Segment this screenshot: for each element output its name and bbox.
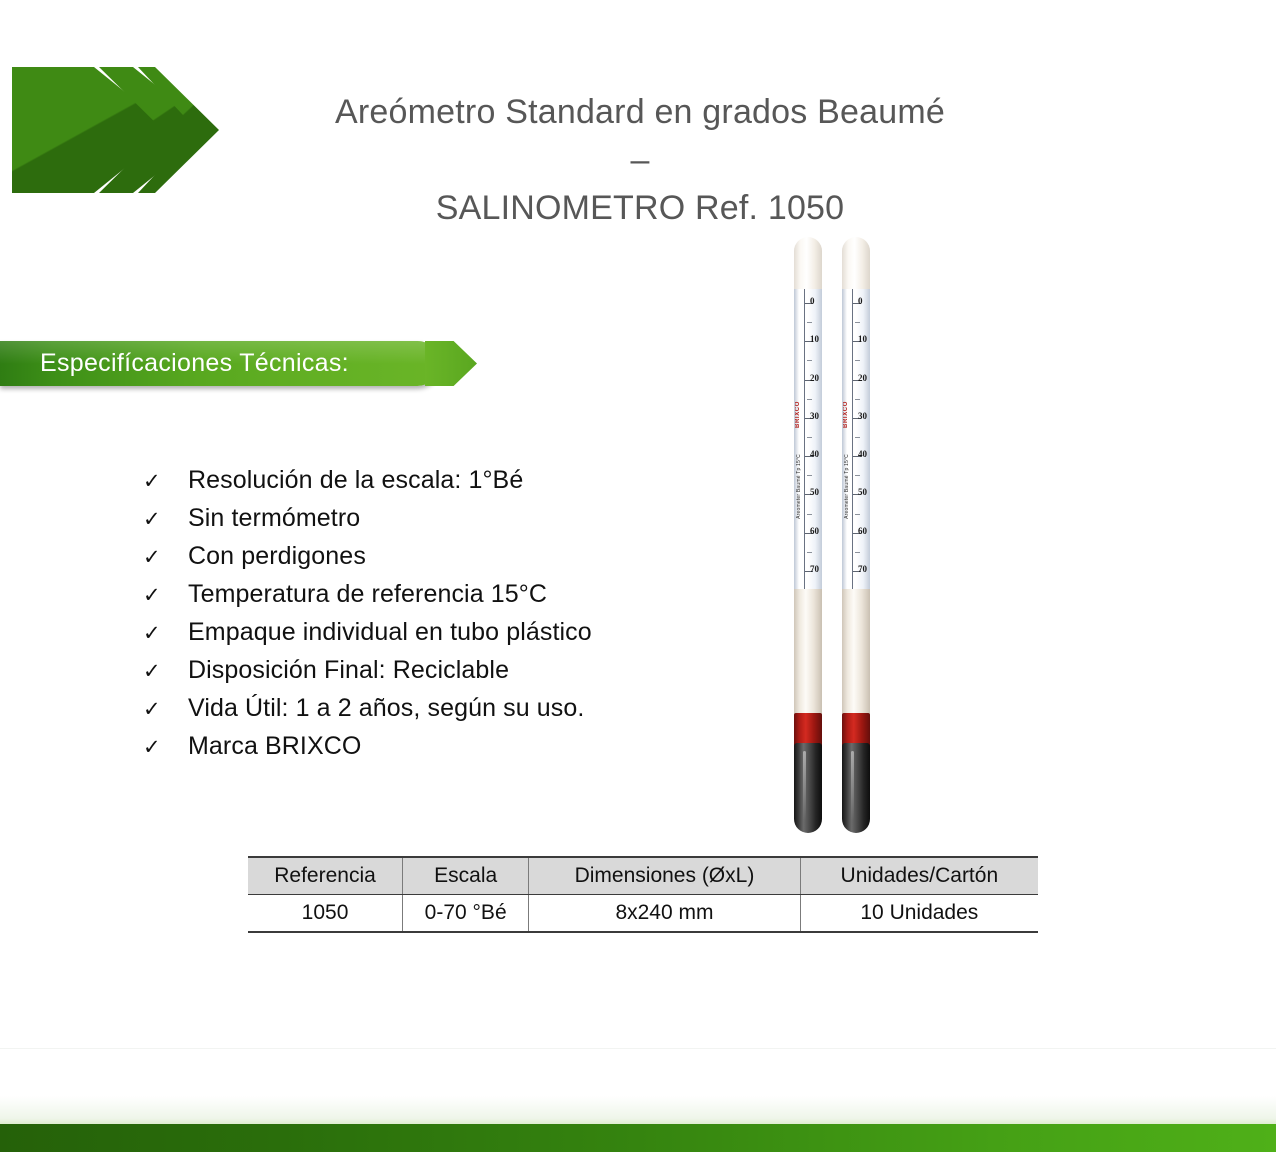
scale-tick-minor [855, 475, 860, 476]
table-header-cell: Referencia [248, 857, 403, 895]
hydrometer-cap [794, 237, 822, 295]
scale-tick-minor [807, 399, 812, 400]
list-item: ✓ Sin termómetro [143, 504, 763, 542]
check-icon: ✓ [143, 471, 188, 492]
hydrometer-cap [842, 237, 870, 295]
product-photo: BRIXCO Areometer Baumé Tp 15°C 010203040… [780, 237, 900, 832]
scale-number: 40 [858, 450, 867, 459]
footer-hairline [0, 1048, 1276, 1049]
scale-number: 40 [810, 450, 819, 459]
hydrometer-scale-description: Areometer Baumé Tp 15°C [844, 454, 850, 519]
hydrometer-stem [794, 589, 822, 717]
scale-tick-minor [807, 322, 812, 323]
list-item: ✓ Empaque individual en tubo plástico [143, 618, 763, 656]
table-cell: 0-70 °Bé [403, 895, 529, 933]
list-item-label: Sin termómetro [188, 504, 360, 533]
list-item: ✓ Marca BRIXCO [143, 732, 763, 770]
specifications-list: ✓ Resolución de la escala: 1°Bé ✓ Sin te… [143, 466, 763, 770]
scale-number: 20 [858, 374, 867, 383]
check-icon: ✓ [143, 585, 188, 606]
scale-tick-minor [855, 322, 860, 323]
hydrometer-brand-label: BRIXCO [843, 401, 849, 428]
list-item: ✓ Resolución de la escala: 1°Bé [143, 466, 763, 504]
scale-number: 10 [810, 335, 819, 344]
check-icon: ✓ [143, 737, 188, 758]
check-icon: ✓ [143, 661, 188, 682]
title-line-2: SALINOMETRO Ref. 1050 [330, 184, 950, 232]
list-item: ✓ Disposición Final: Reciclable [143, 656, 763, 694]
scale-number: 10 [858, 335, 867, 344]
specifications-table: Referencia Escala Dimensiones (ØxL) Unid… [248, 856, 1038, 933]
scale-tick-minor [807, 360, 812, 361]
table-row: 1050 0-70 °Bé 8x240 mm 10 Unidades [248, 895, 1038, 933]
specs-banner-tip [425, 341, 477, 386]
scale-number: 0 [810, 297, 815, 306]
scale-number: 30 [810, 412, 819, 421]
check-icon: ✓ [143, 509, 188, 530]
check-icon: ✓ [143, 699, 188, 720]
table-header-cell: Escala [403, 857, 529, 895]
scale-tick-minor [855, 360, 860, 361]
list-item-label: Disposición Final: Reciclable [188, 656, 509, 685]
scale-tick-minor [855, 399, 860, 400]
list-item-label: Temperatura de referencia 15°C [188, 580, 547, 609]
list-item-label: Vida Útil: 1 a 2 años, según su uso. [188, 694, 584, 723]
hydrometer-bulb [794, 743, 822, 833]
footer-glow [0, 1096, 1276, 1124]
table-header-cell: Dimensiones (ØxL) [529, 857, 800, 895]
hydrometer-scale: BRIXCO Areometer Baumé Tp 15°C 010203040… [794, 289, 822, 589]
list-item-label: Resolución de la escala: 1°Bé [188, 466, 523, 495]
check-icon: ✓ [143, 547, 188, 568]
scale-number: 20 [810, 374, 819, 383]
scale-number: 60 [810, 527, 819, 536]
specs-banner-label: Especifícaciones Técnicas: [40, 349, 349, 378]
scale-number: 0 [858, 297, 863, 306]
scale-tick-minor [855, 514, 860, 515]
scale-number: 50 [810, 488, 819, 497]
hydrometer-left: BRIXCO Areometer Baumé Tp 15°C 010203040… [793, 237, 823, 832]
title-line-1: Areómetro Standard en grados Beaumé – [330, 88, 950, 184]
hydrometer-right: BRIXCO Areometer Baumé Tp 15°C 010203040… [841, 237, 871, 832]
footer-green-bar [0, 1124, 1276, 1152]
table-cell: 10 Unidades [800, 895, 1038, 933]
brand-logo [8, 45, 228, 215]
scale-number: 50 [858, 488, 867, 497]
hydrometer-brand-label: BRIXCO [795, 401, 801, 428]
table-cell: 1050 [248, 895, 403, 933]
page-title: Areómetro Standard en grados Beaumé – SA… [330, 88, 950, 232]
table-header-row: Referencia Escala Dimensiones (ØxL) Unid… [248, 857, 1038, 895]
check-icon: ✓ [143, 623, 188, 644]
scale-number: 70 [858, 565, 867, 574]
scale-tick-minor [807, 475, 812, 476]
scale-tick-minor [855, 552, 860, 553]
scale-tick-minor [855, 437, 860, 438]
hydrometer-bulb [842, 743, 870, 833]
scale-number: 60 [858, 527, 867, 536]
list-item-label: Empaque individual en tubo plástico [188, 618, 592, 647]
scale-tick-minor [807, 514, 812, 515]
table-cell: 8x240 mm [529, 895, 800, 933]
scale-tick-minor [807, 552, 812, 553]
table-header-cell: Unidades/Cartón [800, 857, 1038, 895]
hydrometer-scale-description: Areometer Baumé Tp 15°C [796, 454, 802, 519]
scale-number: 30 [858, 412, 867, 421]
hydrometer-stem [842, 589, 870, 717]
hydrometer-scale: BRIXCO Areometer Baumé Tp 15°C 010203040… [842, 289, 870, 589]
list-item-label: Con perdigones [188, 542, 366, 571]
list-item-label: Marca BRIXCO [188, 732, 361, 761]
scale-tick-minor [807, 437, 812, 438]
list-item: ✓ Temperatura de referencia 15°C [143, 580, 763, 618]
list-item: ✓ Vida Útil: 1 a 2 años, según su uso. [143, 694, 763, 732]
chevron-logo-icon [8, 45, 228, 215]
list-item: ✓ Con perdigones [143, 542, 763, 580]
scale-number: 70 [810, 565, 819, 574]
